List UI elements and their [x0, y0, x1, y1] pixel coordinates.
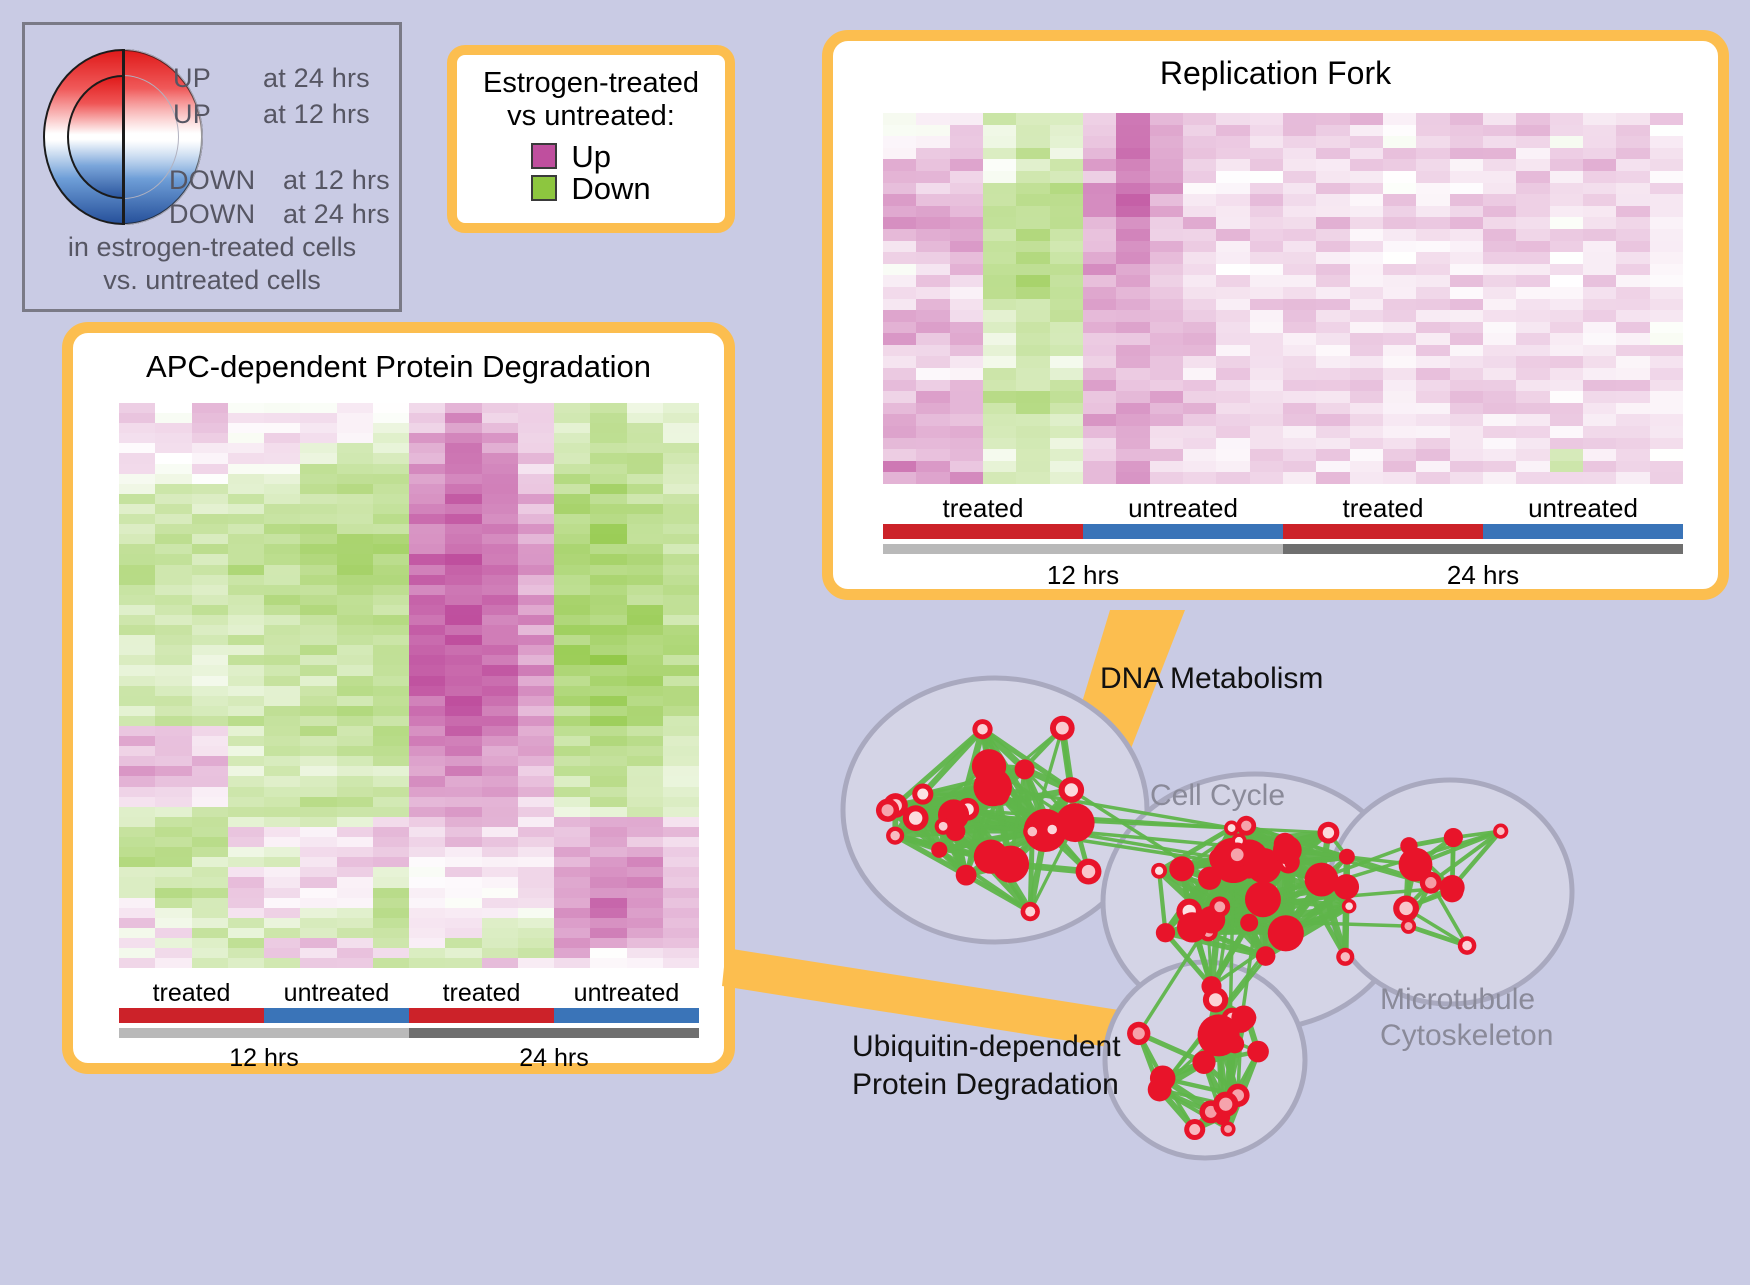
network-node[interactable]: [1247, 1041, 1269, 1063]
heatmap-cell: [916, 113, 949, 125]
heatmap-cell: [1383, 322, 1416, 334]
heatmap-cell: [155, 433, 191, 443]
heatmap-cell: [228, 857, 264, 867]
heatmap-cell: [192, 554, 228, 564]
heatmap-cell: [337, 766, 373, 776]
node-outer: [1240, 914, 1258, 932]
heatmap-cell: [518, 807, 554, 817]
heatmap-cell: [119, 908, 155, 918]
heatmap-cell: [1250, 217, 1283, 229]
network-node[interactable]: [1317, 822, 1339, 844]
network-node[interactable]: [1169, 856, 1194, 881]
heatmap-apc: [119, 403, 699, 968]
heatmap-cell: [264, 736, 300, 746]
heatmap-cell: [1316, 171, 1349, 183]
heatmap-cell: [1116, 148, 1149, 160]
heatmap-cell: [192, 746, 228, 756]
heatmap-cell: [916, 148, 949, 160]
network-node[interactable]: [1236, 816, 1256, 836]
network-node[interactable]: [1198, 867, 1221, 890]
heatmap-cell: [663, 867, 699, 877]
heatmap-cell: [627, 888, 663, 898]
node-outer: [1056, 803, 1095, 842]
heatmap-cell: [300, 797, 336, 807]
heatmap-cell: [264, 433, 300, 443]
heatmap-cell: [663, 413, 699, 423]
network-node[interactable]: [1245, 881, 1281, 917]
heatmap-cell: [1516, 194, 1549, 206]
heatmap-cell: [663, 776, 699, 786]
network-node[interactable]: [1231, 1005, 1256, 1030]
heatmap-cell: [1316, 472, 1349, 484]
network-node[interactable]: [912, 783, 933, 804]
heatmap-cell: [518, 686, 554, 696]
heatmap-cell: [1516, 264, 1549, 276]
heatmap-cell: [1583, 125, 1616, 137]
heatmap-cell: [627, 464, 663, 474]
heatmap-cell: [554, 575, 590, 585]
heatmap-cell: [119, 716, 155, 726]
heatmap-cell: [155, 453, 191, 463]
heatmap-cell: [1616, 403, 1649, 415]
heatmap-cell: [518, 928, 554, 938]
heatmap-cell: [916, 159, 949, 171]
heatmap-cell: [409, 928, 445, 938]
heatmap-cell: [590, 655, 626, 665]
heatmap-cell: [1183, 472, 1216, 484]
network-node[interactable]: [1150, 1065, 1176, 1091]
network-node[interactable]: [1151, 863, 1167, 879]
network-node[interactable]: [1342, 899, 1357, 914]
heatmap-cell: [627, 433, 663, 443]
heatmap-cell: [1583, 472, 1616, 484]
heatmap-cell: [409, 615, 445, 625]
heatmap-cell: [1550, 449, 1583, 461]
heatmap-cell: [1550, 380, 1583, 392]
heatmap-cell: [1516, 148, 1549, 160]
heatmap-cell: [590, 837, 626, 847]
heatmap-cell: [228, 877, 264, 887]
heatmap-cell: [264, 645, 300, 655]
heatmap-cell: [1083, 461, 1116, 473]
heatmap-cell: [192, 686, 228, 696]
heatmap-cell: [264, 615, 300, 625]
time-label-12hrs-apc: 12 hrs: [119, 1044, 409, 1073]
heatmap-cell: [1250, 206, 1283, 218]
heatmap-cell: [337, 413, 373, 423]
heatmap-cell: [192, 433, 228, 443]
network-node[interactable]: [1400, 837, 1417, 854]
heatmap-cell: [1150, 136, 1183, 148]
heatmap-cell: [518, 595, 554, 605]
heatmap-cell: [1150, 148, 1183, 160]
heatmap-cell: [1416, 310, 1449, 322]
heatmap-cell: [518, 827, 554, 837]
heatmap-cell: [192, 938, 228, 948]
heatmap-cell: [916, 380, 949, 392]
heatmap-cell: [1116, 229, 1149, 241]
heatmap-cell: [337, 494, 373, 504]
heatmap-cell: [1650, 113, 1683, 125]
network-node[interactable]: [1156, 923, 1175, 942]
heatmap-cell: [1283, 356, 1316, 368]
heatmap-cell: [883, 229, 916, 241]
heatmap-cell: [1016, 171, 1049, 183]
heatmap-cell: [155, 403, 191, 413]
heatmap-cell: [1316, 333, 1349, 345]
heatmap-cell: [192, 514, 228, 524]
heatmap-cell: [1316, 380, 1349, 392]
heatmap-cell: [1316, 264, 1349, 276]
heatmap-cell: [337, 827, 373, 837]
heatmap-cell: [983, 194, 1016, 206]
heatmap-cell: [1483, 159, 1516, 171]
heatmap-cell: [264, 787, 300, 797]
heatmap-cell: [228, 726, 264, 736]
heatmap-cell: [300, 857, 336, 867]
heatmap-cell: [264, 524, 300, 534]
heatmap-cell: [627, 908, 663, 918]
network-node[interactable]: [1225, 843, 1250, 868]
heatmap-cell: [883, 194, 916, 206]
network-node[interactable]: [1339, 849, 1355, 865]
heatmap-cell: [1283, 287, 1316, 299]
heatmap-cell: [663, 706, 699, 716]
heatmap-cell: [883, 356, 916, 368]
heatmap-cell: [627, 898, 663, 908]
heatmap-cell: [627, 696, 663, 706]
heatmap-cell: [264, 554, 300, 564]
network-node[interactable]: [972, 719, 992, 739]
heatmap-cell: [445, 524, 481, 534]
heatmap-cell: [1116, 136, 1149, 148]
heatmap-cell: [916, 264, 949, 276]
heatmap-cell: [1616, 426, 1649, 438]
heatmap-cell: [1616, 194, 1649, 206]
network-node[interactable]: [1050, 716, 1075, 741]
heatmap-cell: [1316, 310, 1349, 322]
heatmap-cell: [445, 918, 481, 928]
heatmap-cell: [155, 504, 191, 514]
network-node[interactable]: [1256, 946, 1276, 966]
heatmap-cell: [373, 524, 409, 534]
heatmap-cell: [119, 655, 155, 665]
heatmap-cell: [1650, 217, 1683, 229]
heatmap-cell: [192, 726, 228, 736]
network-node[interactable]: [1273, 836, 1302, 865]
heatmap-cell: [916, 252, 949, 264]
heatmap-cell: [983, 252, 1016, 264]
heatmap-cell: [1483, 414, 1516, 426]
heatmap-cell: [482, 797, 518, 807]
heatmap-cell: [228, 494, 264, 504]
heatmap-cell: [228, 554, 264, 564]
network-node[interactable]: [1221, 1122, 1236, 1137]
heatmap-cell: [1150, 310, 1183, 322]
heatmap-cell: [1550, 206, 1583, 218]
heatmap-cell: [228, 918, 264, 928]
heatmap-cell: [445, 575, 481, 585]
heatmap-cell: [1383, 136, 1416, 148]
heatmap-cell: [482, 938, 518, 948]
heatmap-cell: [373, 595, 409, 605]
heatmap-cell: [445, 898, 481, 908]
network-node[interactable]: [1493, 824, 1508, 839]
heatmap-cell: [950, 194, 983, 206]
network-node[interactable]: [1076, 859, 1102, 885]
network-node[interactable]: [1127, 1022, 1150, 1045]
node-outer: [974, 840, 1008, 874]
network-node[interactable]: [1225, 1035, 1244, 1054]
heatmap-cell: [590, 514, 626, 524]
heatmap-cell: [155, 817, 191, 827]
node-core: [1133, 1027, 1145, 1039]
heatmap-cell: [1650, 438, 1683, 450]
heatmap-cell: [983, 368, 1016, 380]
network-node[interactable]: [931, 842, 947, 858]
network-node[interactable]: [1334, 874, 1359, 899]
network-node[interactable]: [1444, 828, 1463, 847]
heatmap-cell: [228, 453, 264, 463]
heatmap-cell: [373, 433, 409, 443]
heatmap-cell: [1450, 275, 1483, 287]
heatmap-cell: [264, 655, 300, 665]
heatmap-cell: [445, 726, 481, 736]
network-node[interactable]: [974, 840, 1008, 874]
heatmap-cell: [1583, 229, 1616, 241]
heatmap-cell: [337, 898, 373, 908]
heatmap-cell: [409, 857, 445, 867]
heatmap-cell: [409, 413, 445, 423]
network-node[interactable]: [1268, 915, 1304, 951]
heatmap-cell: [1183, 275, 1216, 287]
heatmap-cell: [1516, 287, 1549, 299]
heatmap-cell: [337, 918, 373, 928]
heatmap-cell: [228, 787, 264, 797]
heatmap-cell: [590, 565, 626, 575]
heatmap-cell: [1250, 356, 1283, 368]
network-node[interactable]: [1056, 803, 1095, 842]
network-node[interactable]: [1399, 848, 1433, 882]
heatmap-cell: [1650, 322, 1683, 334]
heatmap-cell: [1316, 299, 1349, 311]
network-node[interactable]: [1203, 987, 1228, 1012]
heatmap-cell: [1016, 206, 1049, 218]
heatmap-cell: [950, 310, 983, 322]
heatmap-cell: [518, 464, 554, 474]
heatmap-cell: [409, 898, 445, 908]
heatmap-cell: [663, 655, 699, 665]
heatmap-cell: [1550, 322, 1583, 334]
heatmap-cell: [1150, 241, 1183, 253]
heatmap-cell: [627, 625, 663, 635]
heatmap-cell: [627, 554, 663, 564]
heatmap-cell: [1416, 159, 1449, 171]
heatmap-cell: [300, 524, 336, 534]
heatmap-cell: [1150, 183, 1183, 195]
heatmap-cell: [883, 136, 916, 148]
heatmap-cell: [155, 514, 191, 524]
heatmap-cell: [300, 585, 336, 595]
heatmap-cell: [373, 847, 409, 857]
heatmap-cell: [983, 125, 1016, 137]
network-node[interactable]: [1440, 875, 1465, 900]
network-node[interactable]: [1458, 936, 1477, 955]
heatmap-cell: [1516, 461, 1549, 473]
network-node[interactable]: [1184, 1119, 1205, 1140]
node-outer: [1440, 875, 1465, 900]
time-label-24hrs-apc: 24 hrs: [409, 1044, 699, 1073]
heatmap-cell: [1450, 472, 1483, 484]
network-node[interactable]: [1336, 948, 1354, 966]
heatmap-cell: [1416, 217, 1449, 229]
group-color-bar-apc: [119, 1008, 699, 1023]
heatmap-cell: [1016, 426, 1049, 438]
heatmap-cell: [950, 391, 983, 403]
node-core: [1065, 783, 1078, 796]
heatmap-cell: [445, 817, 481, 827]
heatmap-cell: [1216, 345, 1249, 357]
heatmap-cell: [1483, 299, 1516, 311]
heatmap-cell: [1216, 322, 1249, 334]
heatmap-cell: [627, 575, 663, 585]
heatmap-cell: [590, 867, 626, 877]
network-node[interactable]: [1021, 902, 1040, 921]
heatmap-cell: [1150, 345, 1183, 357]
heatmap-cell: [663, 877, 699, 887]
heatmap-cell: [1383, 356, 1416, 368]
heatmap-cell: [1016, 461, 1049, 473]
heatmap-cell: [1616, 356, 1649, 368]
heatmap-cell: [1483, 136, 1516, 148]
heatmap-cell: [627, 676, 663, 686]
network-node[interactable]: [935, 818, 952, 835]
heatmap-cell: [1116, 252, 1149, 264]
heatmap-cell: [518, 837, 554, 847]
network-node[interactable]: [1213, 1092, 1238, 1117]
heatmap-cell: [950, 241, 983, 253]
heatmap-cell: [1416, 299, 1449, 311]
heatmap-cell: [1083, 310, 1116, 322]
group-label-untreated-12-apc: untreated: [264, 979, 409, 1008]
heatmap-cell: [264, 746, 300, 756]
heatmap-cell: [482, 847, 518, 857]
network-node[interactable]: [1224, 821, 1239, 836]
heatmap-cell: [663, 605, 699, 615]
heatmap-cell: [1083, 345, 1116, 357]
node-outer: [1169, 856, 1194, 881]
network-node[interactable]: [1192, 1051, 1215, 1074]
heatmap-cell: [482, 474, 518, 484]
heatmap-cell: [300, 726, 336, 736]
colorwheel-legend-box: UP at 24 hrs UP at 12 hrs DOWN at 12 hrs…: [22, 22, 402, 312]
heatmap-cell: [590, 625, 626, 635]
heatmap-cell: [518, 575, 554, 585]
heatmap-cell: [1183, 322, 1216, 334]
heatmap-cell: [518, 413, 554, 423]
heatmap-cell: [1383, 183, 1416, 195]
heatmap-cell: [337, 686, 373, 696]
heatmap-cell: [119, 817, 155, 827]
heatmap-cell: [1383, 217, 1416, 229]
group-labels-apc: treated untreated treated untreated: [119, 979, 699, 1008]
heatmap-cell: [1350, 391, 1383, 403]
heatmap-cell: [155, 423, 191, 433]
heatmap-cell: [1083, 252, 1116, 264]
heatmap-cell: [228, 888, 264, 898]
network-node[interactable]: [1177, 912, 1207, 942]
heatmap-cell: [590, 524, 626, 534]
heatmap-cell: [1116, 426, 1149, 438]
heatmap-cell: [1116, 356, 1149, 368]
network-node[interactable]: [1305, 863, 1339, 897]
heatmap-cell: [590, 615, 626, 625]
network-node[interactable]: [1393, 895, 1419, 921]
heatmap-cell: [1650, 414, 1683, 426]
heatmap-cell: [300, 686, 336, 696]
network-node[interactable]: [956, 865, 977, 886]
heatmap-cell: [155, 615, 191, 625]
heatmap-cell: [1516, 217, 1549, 229]
heatmap-cell: [1450, 194, 1483, 206]
heatmap-cell: [482, 686, 518, 696]
heatmap-cell: [1250, 264, 1283, 276]
network-node[interactable]: [972, 749, 1006, 783]
network-node[interactable]: [1043, 820, 1061, 838]
heatmap-cell: [119, 625, 155, 635]
heatmap-cell: [409, 716, 445, 726]
heatmap-cell: [1516, 171, 1549, 183]
heatmap-cell: [1416, 206, 1449, 218]
network-node[interactable]: [1240, 914, 1258, 932]
network-node[interactable]: [988, 785, 1009, 806]
heatmap-cell: [1383, 229, 1416, 241]
heatmap-cell: [663, 433, 699, 443]
heatmap-cell: [228, 686, 264, 696]
node-outer: [1256, 946, 1276, 966]
network-node[interactable]: [1023, 822, 1041, 840]
network-node[interactable]: [886, 827, 904, 845]
heatmap-cell: [1016, 310, 1049, 322]
heatmap-cell: [155, 726, 191, 736]
heatmap-cell: [627, 756, 663, 766]
heatmap-cell: [155, 888, 191, 898]
heatmap-cell: [119, 686, 155, 696]
heatmap-cell: [482, 423, 518, 433]
heatmap-cell: [590, 423, 626, 433]
heatmap-cell: [300, 716, 336, 726]
network-node[interactable]: [903, 805, 929, 831]
network-node[interactable]: [1209, 896, 1230, 917]
network-node[interactable]: [876, 799, 899, 822]
group-bar-segment: [883, 524, 1083, 539]
heatmap-cell: [1483, 345, 1516, 357]
heatmap-cell: [1250, 368, 1283, 380]
node-outer: [1177, 912, 1207, 942]
heatmap-cell: [337, 847, 373, 857]
heatmap-cell: [1583, 310, 1616, 322]
heatmap-cell: [482, 403, 518, 413]
heatmap-cell: [1083, 438, 1116, 450]
heatmap-cell: [337, 514, 373, 524]
node-core: [1189, 1124, 1200, 1135]
heatmap-cell: [337, 605, 373, 615]
heatmap-cell: [1350, 368, 1383, 380]
network-node[interactable]: [1015, 759, 1035, 779]
network-node[interactable]: [1059, 777, 1085, 803]
panel-replication-fork: Replication Fork treated untreated treat…: [822, 30, 1729, 600]
heatmap-cell: [663, 464, 699, 474]
